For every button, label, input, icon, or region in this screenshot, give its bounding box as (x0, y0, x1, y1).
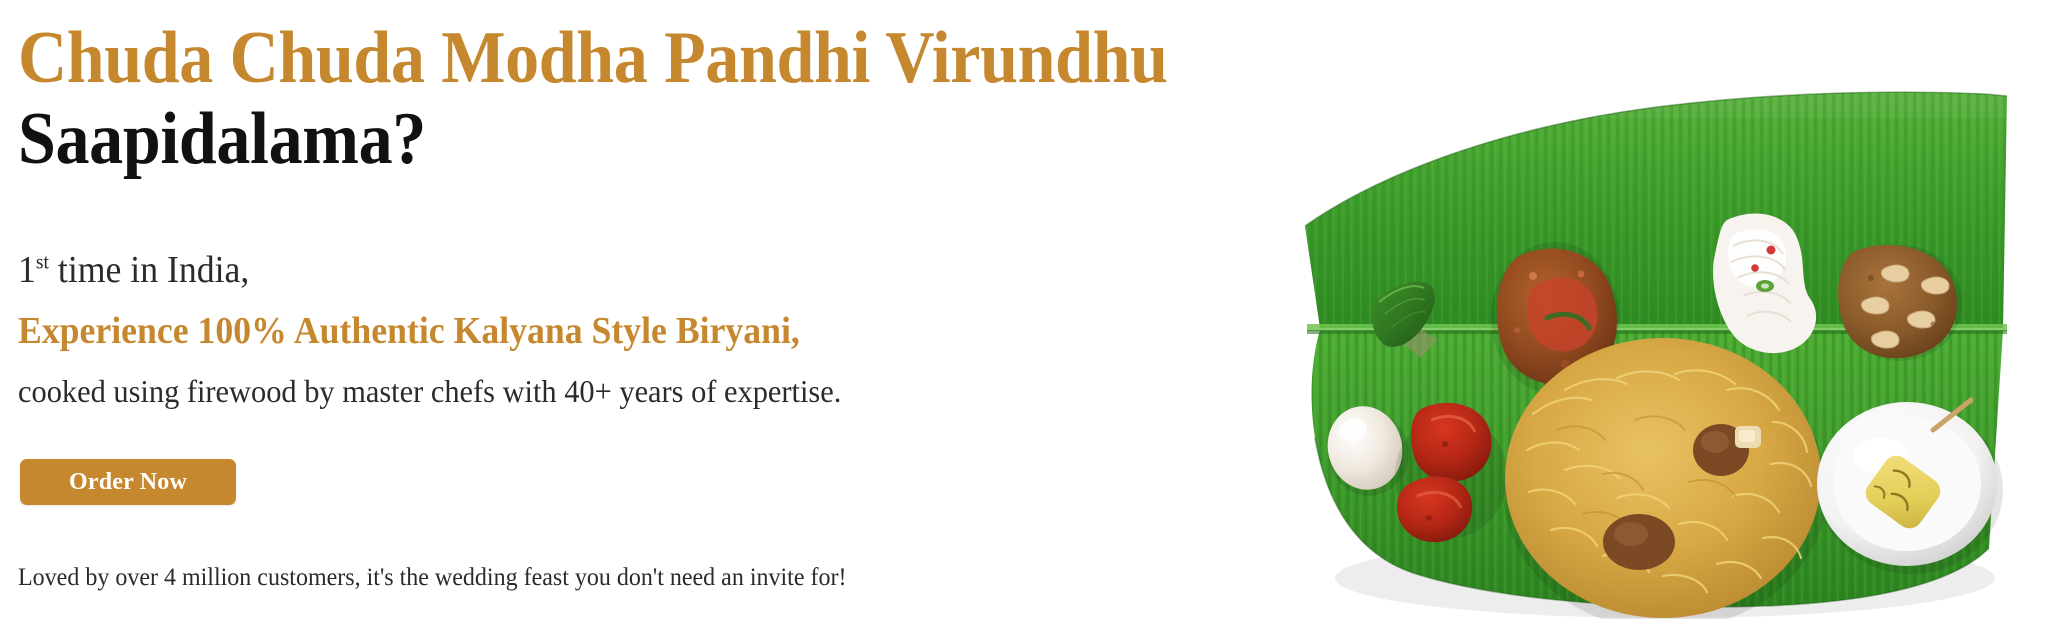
subheading-authentic-biryani: Experience 100% Authentic Kalyana Style … (18, 312, 800, 350)
social-proof-footnote: Loved by over 4 million customers, it's … (18, 565, 846, 590)
hero-copy-block: Chuda Chuda Modha Pandhi Virundhu Saapid… (18, 0, 1338, 619)
ordinal-rest: time in India, (49, 249, 249, 291)
ordinal-suffix: st (36, 249, 49, 273)
subheading-firewood-chefs: cooked using firewood by master chefs wi… (18, 375, 841, 407)
page-title-line-2: Saapidalama? (18, 102, 426, 176)
hero-banner: Chuda Chuda Modha Pandhi Virundhu Saapid… (0, 0, 2048, 619)
biryani-banana-leaf-image (1265, 78, 2048, 619)
ordinal-number: 1 (18, 249, 36, 291)
cashew-halwa-item (1838, 245, 1962, 361)
order-now-button[interactable]: Order Now (20, 459, 236, 505)
page-title-line-1: Chuda Chuda Modha Pandhi Virundhu (18, 21, 1168, 95)
subheading-first-in-india: 1st time in India, (18, 251, 249, 289)
